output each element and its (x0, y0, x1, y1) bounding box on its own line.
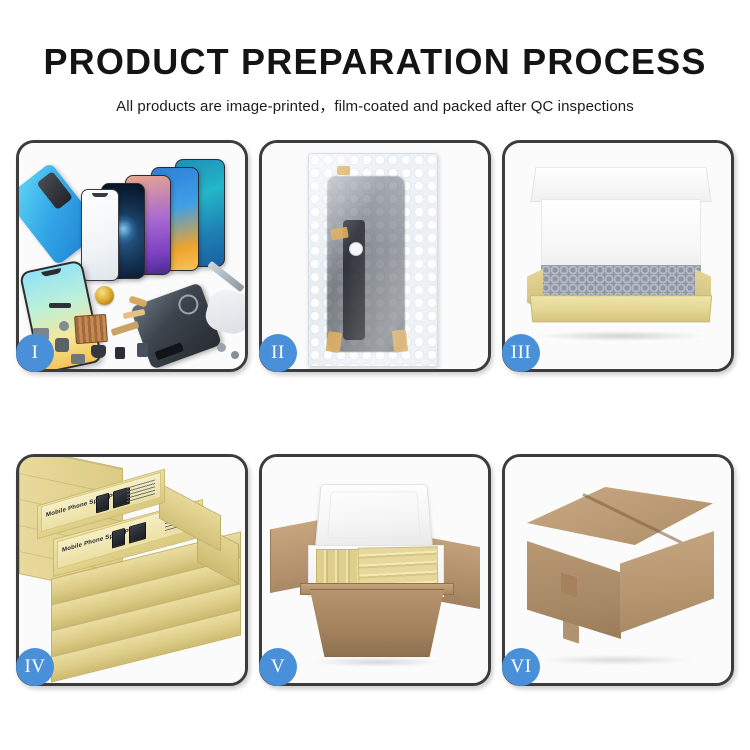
header: PRODUCT PREPARATION PROCESS All products… (0, 0, 750, 116)
step-3-image (505, 143, 731, 369)
foam-lid-icon (315, 484, 433, 547)
step-panel-6: VI (502, 454, 734, 686)
bubble-wrap-contents-icon (541, 265, 701, 297)
step-badge-4: IV (16, 648, 54, 686)
bubble-wrap-bag-icon (308, 153, 438, 367)
box-lid-icon (530, 167, 711, 202)
phone-fan-group (81, 159, 245, 279)
step-badge-5: V (259, 648, 297, 686)
carton-shadow (541, 655, 691, 665)
step-6-image (505, 457, 731, 683)
page-title: PRODUCT PREPARATION PROCESS (0, 44, 750, 80)
screw-icon (217, 343, 226, 352)
carton-tape-icon (563, 620, 579, 643)
carton-right-face (620, 531, 714, 633)
carton-body (304, 589, 450, 657)
step-panel-1: I (16, 140, 248, 372)
process-steps-grid: I II (16, 140, 734, 690)
step-badge-6: VI (502, 648, 540, 686)
spare-part-icon (137, 343, 148, 357)
step-panel-4: Mobile Phone Spare Parts Mobile Phone Sp… (16, 454, 248, 686)
step-panel-3: III (502, 140, 734, 372)
step-2-image (262, 143, 488, 369)
step-4-image: Mobile Phone Spare Parts Mobile Phone Sp… (19, 457, 245, 683)
spare-part-icon (91, 345, 106, 358)
label-window-icon (96, 493, 109, 514)
step-badge-2: II (259, 334, 297, 372)
label-window-icon (112, 528, 125, 549)
box-front-panel (530, 295, 712, 322)
step-panel-5: V (259, 454, 491, 686)
screw-icon (231, 351, 239, 359)
step-badge-1: I (16, 334, 54, 372)
step-5-image (262, 457, 488, 683)
stacked-boxes-icon: Mobile Phone Spare Parts Mobile Phone Sp… (19, 457, 245, 683)
spare-part-icon (55, 338, 69, 352)
carton-top-face (527, 487, 713, 545)
foam-sheet-icon (543, 201, 699, 267)
copper-coil-icon (95, 286, 114, 305)
product-preparation-infographic: PRODUCT PREPARATION PROCESS All products… (0, 0, 750, 750)
step-1-image (19, 143, 245, 369)
page-subtitle: All products are image-printed，film-coat… (0, 95, 750, 116)
label-window-icon (129, 522, 146, 544)
spare-part-icon (115, 347, 125, 359)
carton-shadow (314, 657, 440, 667)
spare-part-icon (111, 321, 140, 336)
chip-grid-icon (74, 314, 108, 344)
screen-protector-icon (81, 189, 119, 281)
spare-part-icon (49, 303, 71, 308)
step-badge-3: III (502, 334, 540, 372)
plastic-gloss (309, 154, 437, 366)
spare-part-icon (59, 321, 69, 331)
spare-part-icon (71, 354, 85, 364)
box-shadow (539, 331, 705, 341)
step-panel-2: II (259, 140, 491, 372)
